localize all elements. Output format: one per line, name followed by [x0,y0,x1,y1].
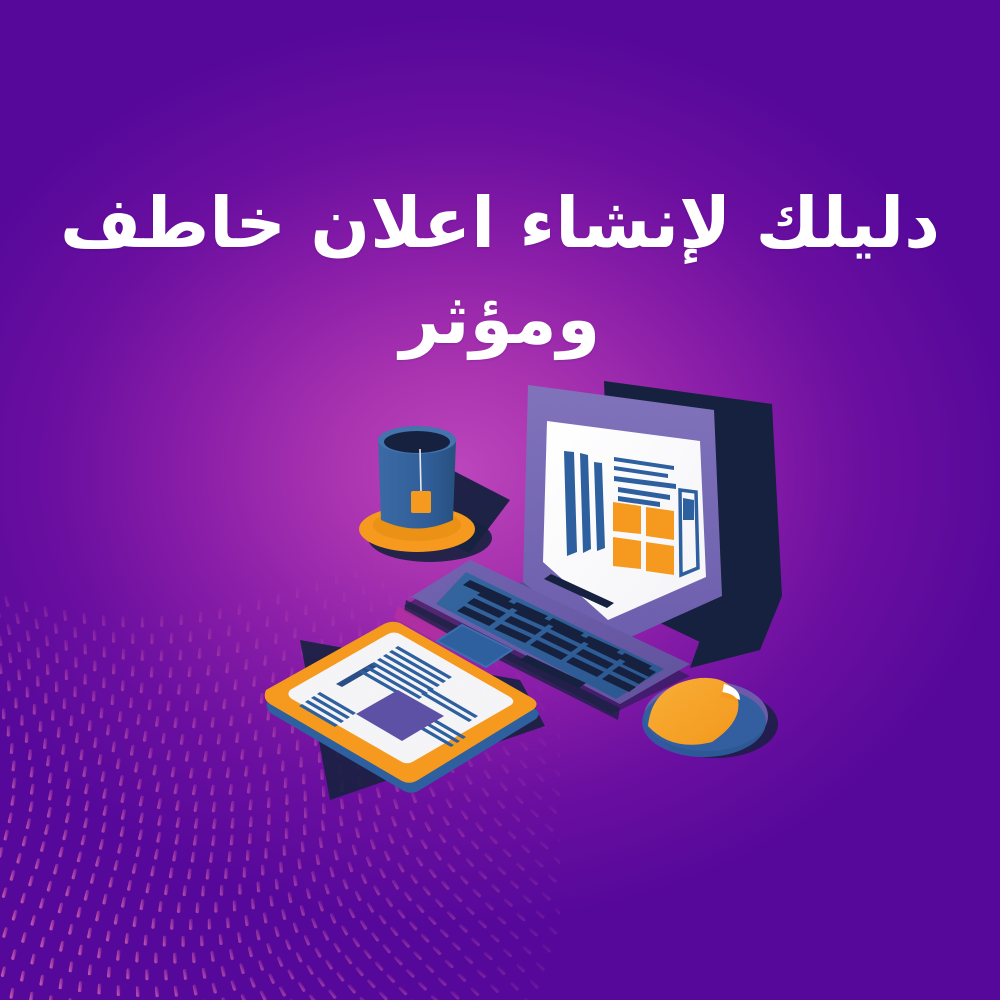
headline-line-2: ومؤثر [50,271,950,368]
poster-headline: دليلك لإنشاء اعلان خاطف ومؤثر [50,175,950,368]
tea-bag-tag [411,491,431,513]
screen-tile-1 [613,502,641,534]
computer-mouse[interactable] [642,678,768,757]
screen-tile-2 [646,507,674,540]
screen-tile-4 [646,542,674,575]
headline-line-1: دليلك لإنشاء اعلان خاطف [50,175,950,272]
screen-tile-3 [613,537,641,569]
poster-canvas: دليلك لإنشاء اعلان خاطف ومؤثر [0,0,1000,1000]
tea-bag-string [420,449,421,492]
cup-tea-liquid [384,431,450,453]
workspace-illustration [0,0,1000,1000]
tea-cup[interactable] [359,426,475,552]
